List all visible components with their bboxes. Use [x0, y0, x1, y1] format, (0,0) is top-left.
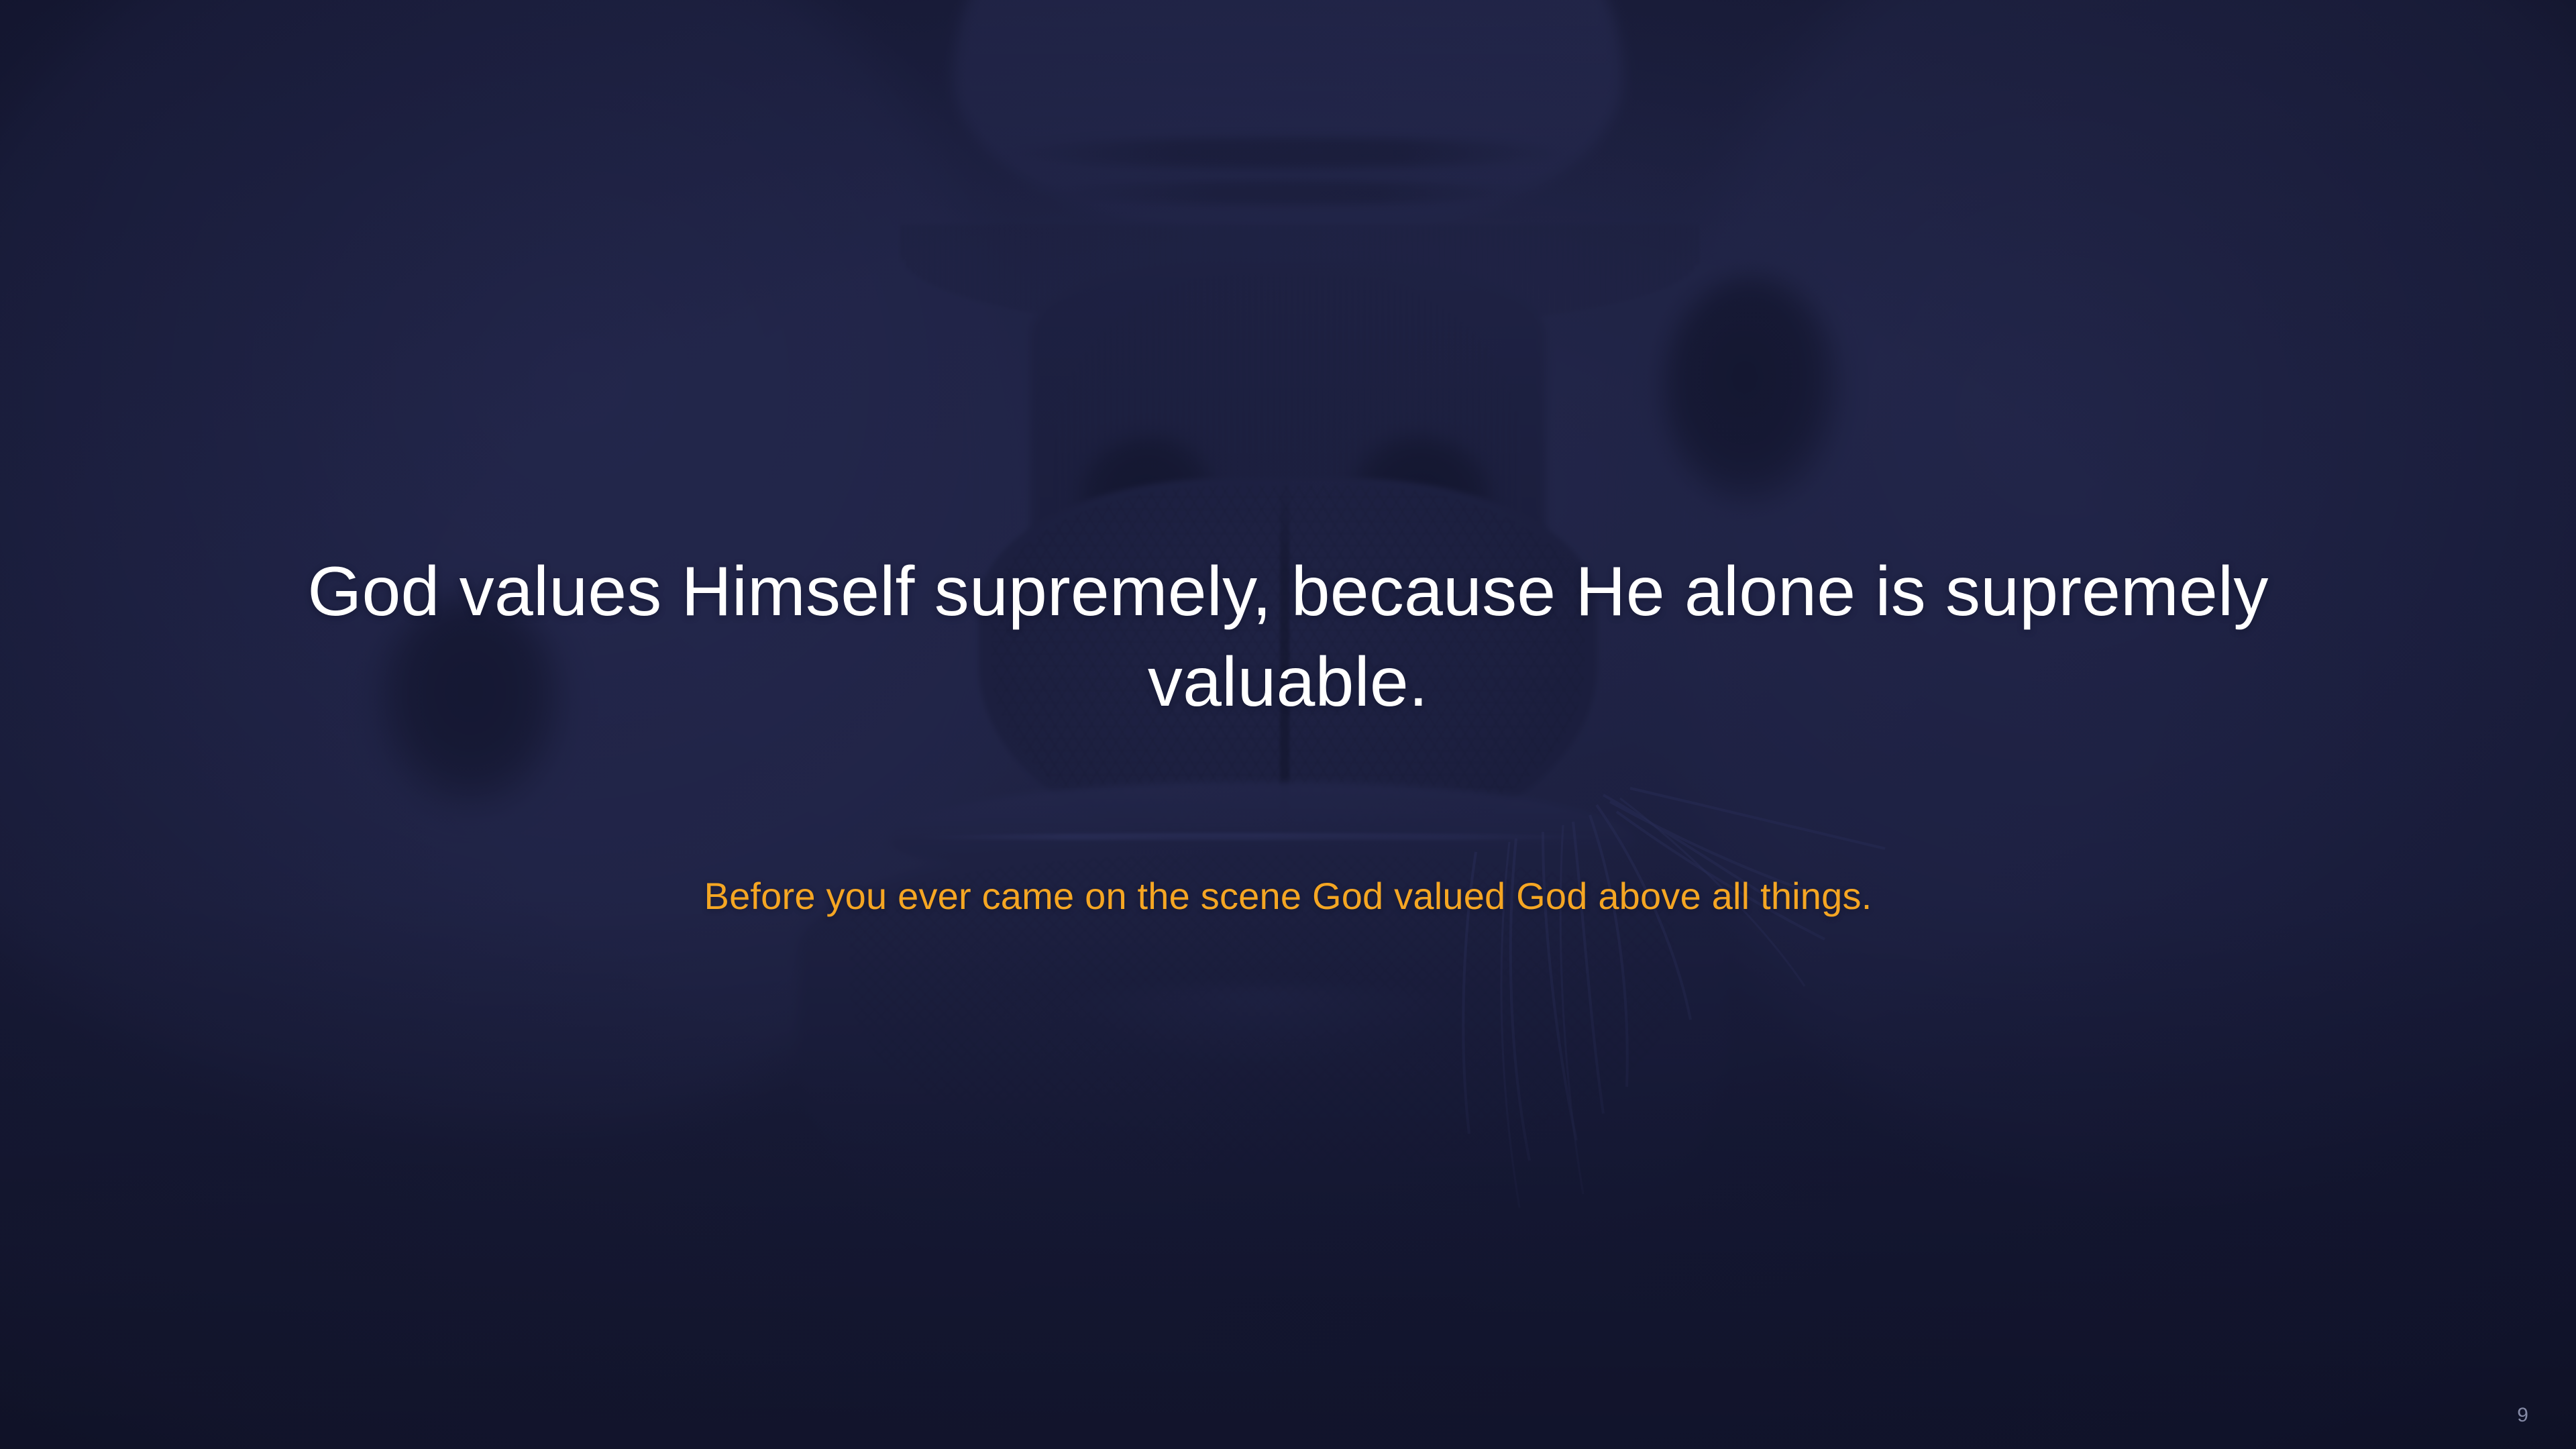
presentation-slide: God values Himself supremely, because He…	[0, 0, 2576, 1449]
page-number: 9	[2517, 1404, 2528, 1427]
slide-content: God values Himself supremely, because He…	[0, 0, 2576, 1449]
slide-title: God values Himself supremely, because He…	[196, 547, 2380, 728]
slide-subtitle: Before you ever came on the scene God va…	[258, 872, 2318, 921]
